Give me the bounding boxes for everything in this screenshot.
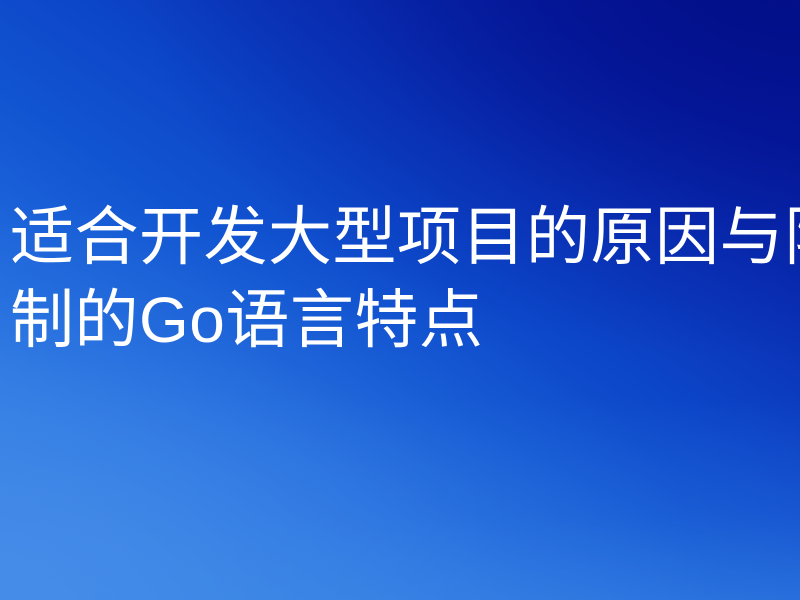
page-title: 适合开发大型项目的原因与限 制的Go语言特点 bbox=[10, 196, 800, 362]
title-line-1: 适合开发大型项目的原因与限 bbox=[10, 196, 800, 279]
title-card-slide: 适合开发大型项目的原因与限 制的Go语言特点 bbox=[0, 0, 800, 600]
title-line-2: 制的Go语言特点 bbox=[10, 279, 800, 362]
